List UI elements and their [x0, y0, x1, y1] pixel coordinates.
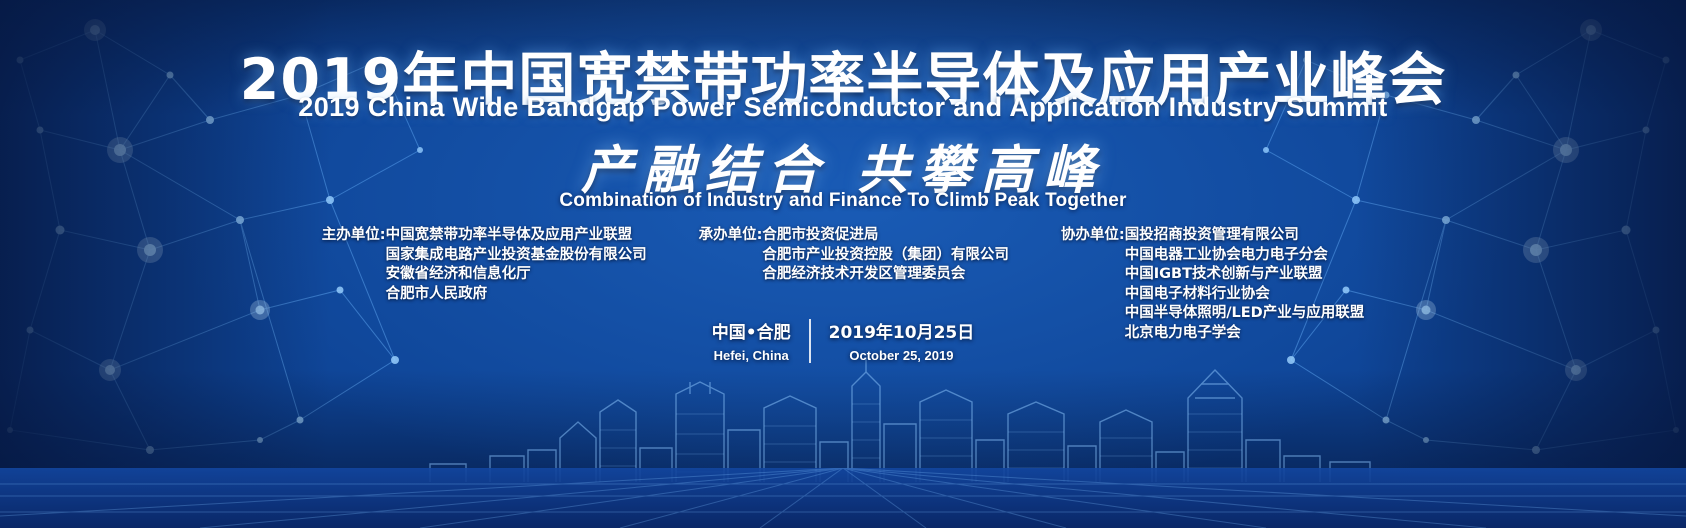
organizer-label: 主办单位: [322, 226, 386, 246]
conference-banner: 2019年中国宽禁带功率半导体及应用产业峰会 2019 China Wide B… [0, 0, 1686, 528]
venue-location-english: Hefei, China [714, 348, 789, 363]
list-item: 合肥经济技术开发区管理委员会 [762, 265, 1009, 285]
organizer-list: 合肥市投资促进局 合肥市产业投资控股（集团）有限公司 合肥经济技术开发区管理委员… [762, 226, 1009, 285]
list-item: 安徽省经济和信息化厅 [386, 265, 647, 285]
banner-content: 2019年中国宽禁带功率半导体及应用产业峰会 2019 China Wide B… [0, 0, 1686, 528]
list-item: 中国IGBT技术创新与产业联盟 [1125, 265, 1364, 285]
list-item: 中国电子材料行业协会 [1125, 285, 1364, 305]
venue-date-chinese: 2019年10月25日 [829, 318, 975, 343]
venue-location: 中国•合肥 Hefei, China [694, 318, 809, 363]
organizer-list: 中国宽禁带功率半导体及应用产业联盟 国家集成电路产业投资基金股份有限公司 安徽省… [386, 226, 647, 304]
organizer-label: 协办单位: [1061, 226, 1125, 246]
slogan-english: Combination of Industry and Finance To C… [0, 190, 1686, 212]
list-item: 中国电器工业协会电力电子分会 [1125, 246, 1364, 266]
list-item: 合肥市人民政府 [386, 285, 647, 305]
page-title-english: 2019 China Wide Bandgap Power Semiconduc… [0, 92, 1686, 123]
venue-date-section: 中国•合肥 Hefei, China 2019年10月25日 October 2… [0, 318, 1686, 363]
organizer-label: 承办单位: [699, 226, 763, 246]
list-item: 中国宽禁带功率半导体及应用产业联盟 [386, 226, 647, 246]
venue-date-english: October 25, 2019 [849, 348, 953, 363]
list-item: 国家集成电路产业投资基金股份有限公司 [386, 246, 647, 266]
venue-location-chinese: 中国•合肥 [712, 318, 791, 343]
list-item: 合肥市投资促进局 [762, 226, 1009, 246]
venue-date: 2019年10月25日 October 25, 2019 [811, 318, 993, 363]
list-item: 合肥市产业投资控股（集团）有限公司 [762, 246, 1009, 266]
list-item: 国投招商投资管理有限公司 [1125, 226, 1364, 246]
